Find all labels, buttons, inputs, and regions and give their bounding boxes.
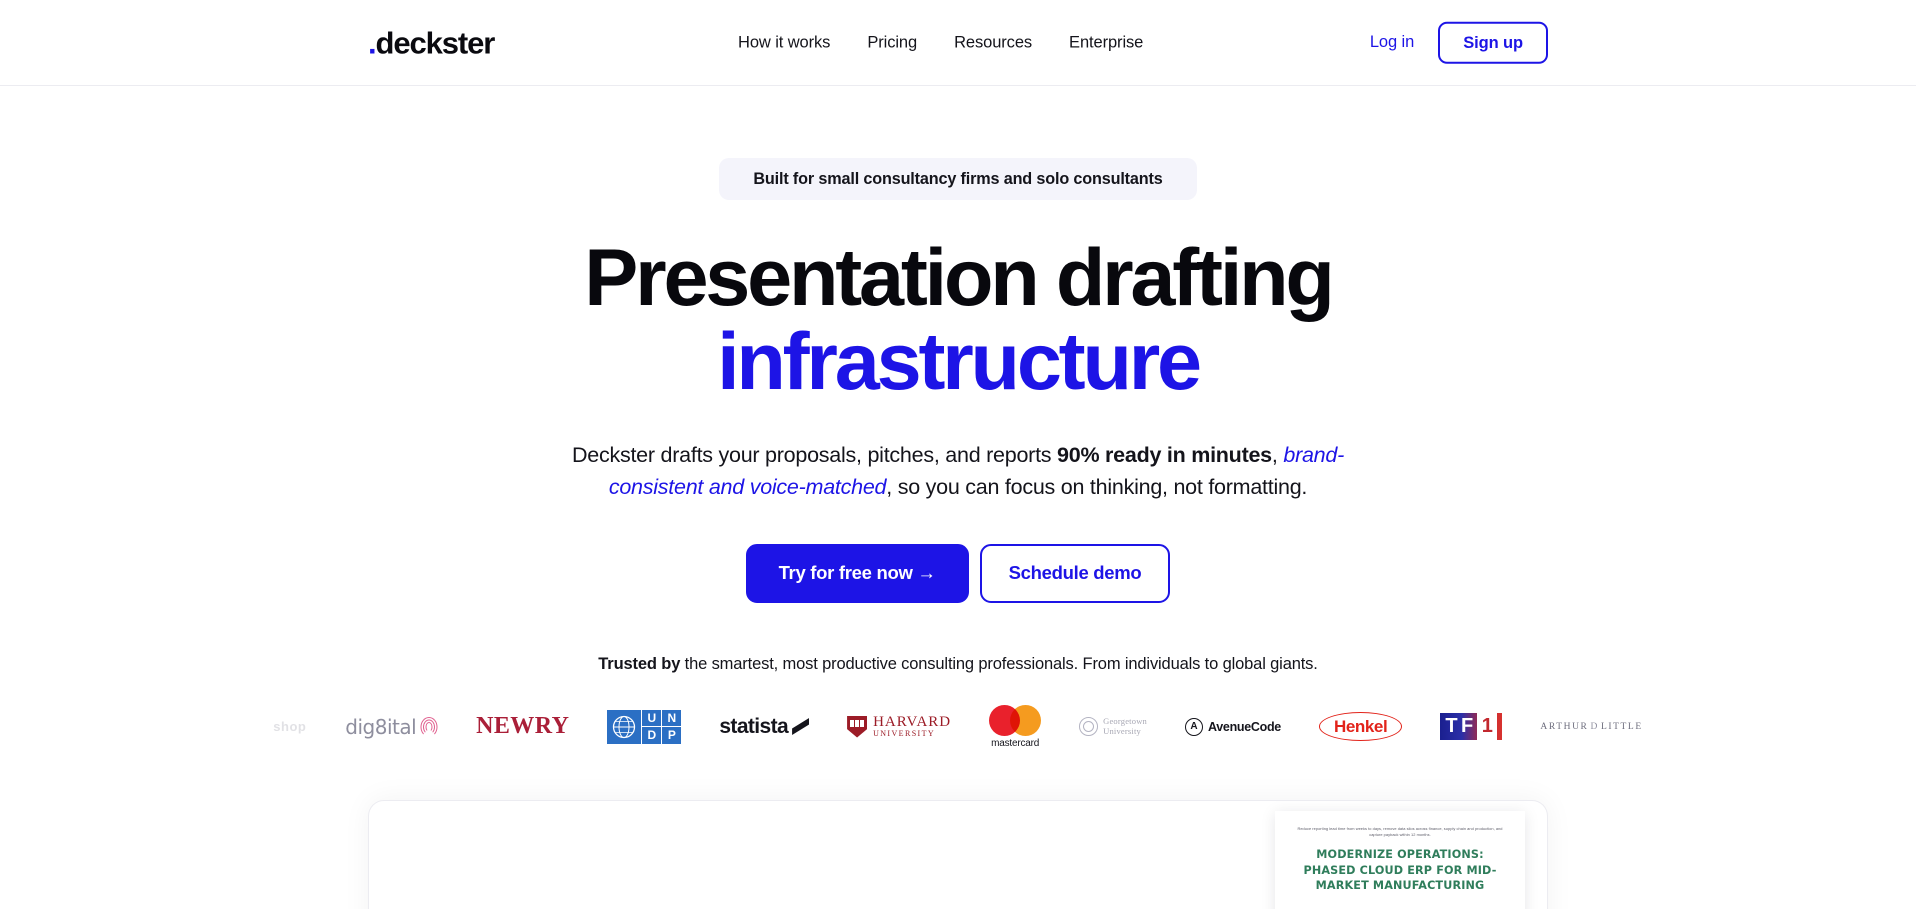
logo-dig8ital: dig8ital bbox=[345, 704, 438, 750]
dig8ital-wordmark: dig8ital bbox=[345, 715, 416, 739]
page-title: Presentation drafting infrastructure bbox=[0, 236, 1916, 404]
slide-thumbnail[interactable]: Reduce reporting lead time from weeks to… bbox=[1275, 811, 1525, 909]
harvard-subtitle: UNIVERSITY bbox=[873, 730, 951, 739]
logo-harvard: HARVARD UNIVERSITY bbox=[847, 704, 951, 750]
hero-sub-part-1: Deckster drafts your proposals, pitches,… bbox=[572, 443, 1057, 467]
statista-wordmark: statista bbox=[719, 715, 788, 739]
trusted-by-rest: the smartest, most productive consulting… bbox=[680, 655, 1318, 673]
brand-name: deckster bbox=[376, 25, 495, 60]
shopify-wordmark: shopify bbox=[273, 719, 307, 734]
logo-avenuecode: A AvenueCode bbox=[1185, 704, 1281, 750]
tf1-letter-f: F bbox=[1461, 713, 1473, 740]
hero-sub-highlight: 90% ready in minutes bbox=[1057, 443, 1272, 467]
globe-icon bbox=[607, 710, 641, 744]
trusted-by-label: Trusted by bbox=[598, 655, 680, 673]
statista-mark-icon bbox=[792, 718, 809, 735]
nav-item-pricing[interactable]: Pricing bbox=[867, 33, 917, 52]
product-preview-card[interactable]: Reduce reporting lead time from weeks to… bbox=[368, 800, 1548, 909]
georgetown-subtitle: University bbox=[1103, 727, 1147, 737]
tf1-letter-1: 1 bbox=[1477, 713, 1498, 740]
mastercard-circles-icon bbox=[989, 705, 1041, 736]
hero-subtitle: Deckster drafts your proposals, pitches,… bbox=[558, 439, 1358, 504]
logo-arthur-d-little: ARTHUR D LITTLE bbox=[1540, 704, 1642, 750]
mastercard-wordmark: mastercard bbox=[991, 738, 1039, 749]
harvard-wordmark: HARVARD bbox=[873, 714, 951, 731]
logo-statista: statista bbox=[719, 704, 809, 750]
avenuecode-mark-icon: A bbox=[1185, 718, 1203, 736]
main-nav: How it works Pricing Resources Enterpris… bbox=[738, 33, 1143, 52]
tf1-letter-t: T bbox=[1445, 713, 1457, 740]
product-preview-shell: Reduce reporting lead time from weeks to… bbox=[368, 800, 1548, 909]
slide-title-text: Modernize operations: phased cloud ERP f… bbox=[1291, 847, 1509, 895]
hero-sub-part-2: , bbox=[1272, 443, 1283, 467]
login-link[interactable]: Log in bbox=[1370, 33, 1414, 52]
henkel-wordmark: Henkel bbox=[1319, 712, 1402, 741]
adl-subtitle: LITTLE bbox=[1601, 722, 1643, 732]
avenuecode-wordmark: AvenueCode bbox=[1208, 720, 1281, 734]
schedule-demo-button[interactable]: Schedule demo bbox=[980, 544, 1171, 603]
hero-badge: Built for small consultancy firms and so… bbox=[719, 158, 1196, 200]
adl-mark: D bbox=[1590, 722, 1598, 732]
logo-shopify: shopify bbox=[273, 704, 307, 750]
slide-kicker-text: Reduce reporting lead time from weeks to… bbox=[1291, 826, 1509, 838]
hero-title-line-1: Presentation drafting bbox=[584, 233, 1331, 323]
undp-letter-n: N bbox=[661, 710, 681, 727]
undp-letter-d: D bbox=[641, 727, 661, 744]
hero-sub-part-3: , so you can focus on thinking, not form… bbox=[886, 475, 1307, 499]
logo-georgetown: Georgetown University bbox=[1079, 704, 1147, 750]
client-logo-strip: shopify dig8ital NEWRY bbox=[0, 698, 1916, 756]
hero-cta-group: Try for free now → Schedule demo bbox=[0, 544, 1916, 603]
undp-letters: U N D P bbox=[641, 710, 681, 744]
adl-wordmark: ARTHUR bbox=[1540, 722, 1588, 732]
undp-letter-u: U bbox=[641, 710, 661, 727]
hero-section: Built for small consultancy firms and so… bbox=[0, 86, 1916, 909]
brand-logo[interactable]: .deckster bbox=[368, 27, 494, 58]
logo-undp: U N D P bbox=[607, 704, 681, 750]
nav-item-enterprise[interactable]: Enterprise bbox=[1069, 33, 1143, 52]
try-free-button[interactable]: Try for free now → bbox=[746, 544, 969, 603]
logo-henkel: Henkel bbox=[1319, 704, 1402, 750]
logo-mastercard: mastercard bbox=[989, 704, 1041, 750]
nav-item-how-it-works[interactable]: How it works bbox=[738, 33, 830, 52]
brand-dot: . bbox=[368, 25, 376, 60]
shield-icon bbox=[847, 716, 867, 738]
newry-wordmark: NEWRY bbox=[476, 713, 569, 740]
hero-title-line-2: infrastructure bbox=[0, 320, 1916, 404]
undp-letter-p: P bbox=[661, 727, 681, 744]
fingerprint-icon bbox=[419, 716, 438, 738]
logo-newry: NEWRY bbox=[476, 704, 569, 750]
logo-tf1: T F 1 bbox=[1440, 704, 1502, 750]
auth-group: Log in Sign up bbox=[1370, 21, 1548, 64]
site-header: .deckster How it works Pricing Resources… bbox=[0, 0, 1916, 86]
seal-icon bbox=[1079, 717, 1098, 736]
signup-button[interactable]: Sign up bbox=[1438, 21, 1548, 64]
trusted-by-text: Trusted by the smartest, most productive… bbox=[0, 655, 1916, 674]
nav-item-resources[interactable]: Resources bbox=[954, 33, 1032, 52]
